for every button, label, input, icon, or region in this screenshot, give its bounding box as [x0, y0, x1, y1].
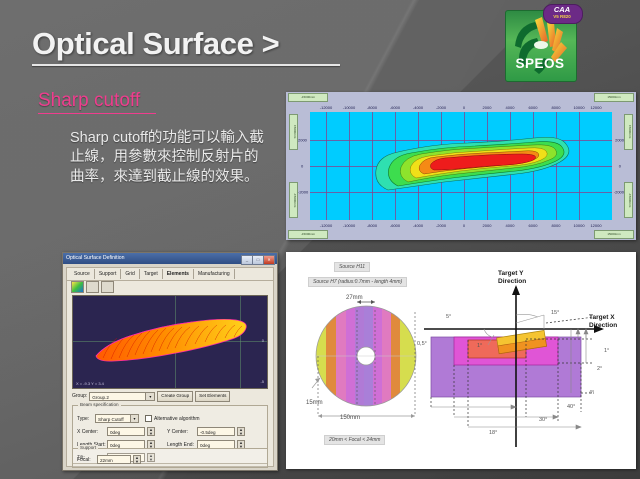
- contour-plot-canvas: -15000mm 15000mm -15000mm 15000mm 15000m…: [286, 92, 636, 240]
- side-label-bottom-right: -15000mm: [624, 182, 633, 218]
- chevron-down-icon[interactable]: ▼: [145, 393, 154, 400]
- dialog-toolbar[interactable]: [67, 281, 273, 293]
- xtick-bottom-10: 8000: [552, 223, 561, 228]
- y-center-input[interactable]: -0.5deg: [197, 427, 235, 436]
- corner-label-top-left: -15000mm: [288, 93, 328, 102]
- xtick-top-3: -6000: [390, 105, 400, 110]
- ytick-left-0: 2000: [298, 138, 307, 143]
- render-mode-shaded-icon[interactable]: [71, 281, 84, 293]
- angle-30-label: 30°: [539, 417, 547, 423]
- caa-badge-sublabel: V5 R820: [543, 14, 581, 20]
- focal-label: Focal:: [77, 457, 95, 463]
- viewport-axis-zero: 0: [262, 338, 264, 343]
- focal-row[interactable]: Focal: 22mm ▲▼: [77, 455, 141, 464]
- x-center-input[interactable]: 0deg: [107, 427, 145, 436]
- xtick-bottom-8: 4000: [506, 223, 515, 228]
- xtick-top-4: -4000: [413, 105, 423, 110]
- xtick-top-12: 12000: [590, 105, 601, 110]
- xtick-bottom-12: 12000: [590, 223, 601, 228]
- group-combobox[interactable]: Group.2 ▼: [89, 392, 155, 401]
- corner-label-bottom-right: 15000mm: [594, 230, 634, 239]
- xtick-bottom-7: 2000: [483, 223, 492, 228]
- xtick-top-10: 8000: [552, 105, 561, 110]
- tab-manufacturing[interactable]: Manufacturing: [194, 269, 235, 279]
- support-group: Support Focal: 22mm ▲▼: [72, 448, 268, 468]
- target-x-label-line2: Direction: [589, 322, 617, 330]
- tab-grid[interactable]: Grid: [121, 269, 139, 279]
- y-center-label: Y Center:: [167, 429, 195, 435]
- side-label-bottom-left: -15000mm: [289, 182, 298, 218]
- dialog-title-text: Optical Surface Definition: [66, 255, 125, 261]
- body-paragraph: Sharp cutoff的功能可以輸入截止線，用參數來控制反射片的曲率，來達到截…: [70, 129, 270, 187]
- xtick-bottom-11: 10000: [573, 223, 584, 228]
- support-group-title: Support: [78, 445, 98, 450]
- group-row[interactable]: Group: Group.2 ▼ Create Group Set Elemen…: [72, 391, 268, 401]
- ytick-right-0: 2000: [615, 138, 624, 143]
- type-label: Type:: [77, 416, 93, 422]
- angle-5-label: 5°: [446, 314, 451, 320]
- create-group-button[interactable]: Create Group: [157, 391, 193, 402]
- xtick-bottom-3: -6000: [390, 223, 400, 228]
- group-value: Group.2: [92, 395, 109, 400]
- group-label: Group:: [72, 393, 87, 399]
- ytick-right-2: -2000: [614, 190, 624, 195]
- dialog-body: Source Support Grid Target Elements Manu…: [66, 267, 274, 467]
- target-y-label-line1: Target Y: [498, 270, 523, 278]
- y-center-stepper[interactable]: ▲▼: [237, 427, 245, 436]
- xtick-top-5: -2000: [436, 105, 446, 110]
- xtick-top-8: 4000: [506, 105, 515, 110]
- tab-source[interactable]: Source: [70, 269, 95, 279]
- technical-diagram-canvas: Source H11 Source H7 (radius:0.7mm - len…: [286, 252, 636, 469]
- subheading-underline: [38, 113, 156, 114]
- xtick-top-6: 0: [463, 105, 465, 110]
- contour-levels: [310, 112, 612, 220]
- subheading-block: Sharp cutoff: [38, 90, 156, 114]
- angle-1-right-label: 1°: [604, 348, 609, 354]
- close-button[interactable]: ✕: [263, 255, 275, 265]
- focal-range-tag: 20mm < Focal < 24mm: [324, 435, 385, 445]
- title-underline: [32, 64, 340, 66]
- xtick-bottom-9: 6000: [529, 223, 538, 228]
- focal-stepper[interactable]: ▲▼: [133, 455, 141, 464]
- speos-logo: SPEOS CAA V5 R820: [500, 4, 582, 82]
- source-h7-tag: Source H7 (radius:0.7mm - length 4mm): [308, 277, 407, 287]
- contour-plot-area: [310, 112, 612, 220]
- x-center-row[interactable]: X Center: 0deg ▲▼: [77, 427, 155, 436]
- side-label-top-right: 15000mm: [624, 114, 633, 150]
- type-combobox[interactable]: Sharp Cutoff ▼: [95, 414, 139, 423]
- contour-plot-image: -15000mm 15000mm -15000mm 15000mm 15000m…: [286, 92, 636, 240]
- length-end-label: Length End:: [167, 442, 195, 448]
- tab-target[interactable]: Target: [140, 269, 163, 279]
- render-mode-wireframe-icon[interactable]: [86, 281, 99, 293]
- beam-specification-title: Beam specification: [78, 402, 121, 407]
- xtick-bottom-2: -8000: [367, 223, 377, 228]
- viewport-coordinate-readout: X = -9.3 Y = 3.4: [76, 381, 104, 386]
- side-label-top-left: 15000mm: [289, 114, 298, 150]
- title-block: Optical Surface >: [32, 28, 362, 66]
- x-center-label: X Center:: [77, 429, 105, 435]
- ytick-left-2: -2000: [298, 190, 308, 195]
- x-center-stepper[interactable]: ▲▼: [147, 427, 155, 436]
- source-h11-tag: Source H11: [334, 262, 370, 272]
- xtick-bottom-1: -10000: [343, 223, 355, 228]
- target-y-label-line2: Direction: [498, 278, 526, 286]
- subheading: Sharp cutoff: [38, 90, 156, 112]
- corner-label-top-right: 15000mm: [594, 93, 634, 102]
- three-d-viewport[interactable]: X = -9.3 Y = 3.4 -5 0: [72, 295, 268, 389]
- alternative-algorithm-label: Alternative algorithm: [154, 416, 200, 422]
- xtick-top-2: -8000: [367, 105, 377, 110]
- page-title: Optical Surface >: [32, 28, 362, 61]
- dialog-titlebar[interactable]: Optical Surface Definition _ □ ✕: [63, 253, 277, 264]
- type-chevron-down-icon[interactable]: ▼: [130, 415, 138, 422]
- ytick-left-1: 0: [301, 164, 303, 169]
- corner-label-bottom-left: -15000mm: [288, 230, 328, 239]
- xtick-bottom-4: -4000: [413, 223, 423, 228]
- xtick-top-0: -12000: [320, 105, 332, 110]
- dim-150mm-label: 150mm: [340, 415, 360, 421]
- xtick-bottom-5: -2000: [436, 223, 446, 228]
- angle-1-inner-label: 1°: [477, 343, 482, 349]
- xtick-bottom-6: 0: [463, 223, 465, 228]
- xtick-top-11: 10000: [573, 105, 584, 110]
- focal-input[interactable]: 22mm: [97, 455, 131, 464]
- render-mode-points-icon[interactable]: [101, 281, 114, 293]
- logo-wordmark: SPEOS: [505, 56, 575, 71]
- y-center-row[interactable]: Y Center: -0.5deg ▲▼: [167, 427, 245, 436]
- target-direction-diagram: [416, 267, 626, 457]
- xtick-top-9: 6000: [529, 105, 538, 110]
- set-elements-button[interactable]: Set Elements: [195, 391, 230, 402]
- target-x-label-line1: Target X: [589, 314, 615, 322]
- reflector-mesh: [73, 296, 268, 388]
- technical-diagram-image: Source H11 Source H7 (radius:0.7mm - len…: [286, 252, 636, 469]
- angle-4-right-label: 4°: [589, 390, 594, 396]
- type-row[interactable]: Type: Sharp Cutoff ▼ Alternative algorit…: [77, 414, 200, 423]
- angle-05-label: 0,5°: [417, 341, 427, 347]
- xtick-top-7: 2000: [483, 105, 492, 110]
- tab-support[interactable]: Support: [95, 269, 122, 279]
- xtick-top-1: -10000: [343, 105, 355, 110]
- dim-27mm-label: 27mm: [346, 295, 363, 301]
- slide-canvas: Optical Surface > Sharp cutoff Sharp cut…: [0, 0, 640, 479]
- angle-15-label: 15°: [551, 310, 559, 316]
- alternative-algorithm-checkbox[interactable]: [145, 415, 152, 422]
- dim-15mm-label: 15mm: [306, 400, 323, 406]
- angle-40-label: 40°: [567, 404, 575, 410]
- ytick-right-1: 0: [619, 164, 621, 169]
- angle-2-right-label: 2°: [597, 366, 602, 372]
- tab-elements[interactable]: Elements: [163, 269, 194, 279]
- type-value: Sharp Cutoff: [98, 417, 124, 422]
- dialog-tabstrip[interactable]: Source Support Grid Target Elements Manu…: [67, 268, 273, 281]
- angle-18-label: 18°: [489, 430, 497, 436]
- viewport-axis-minus5: -5: [260, 379, 264, 384]
- optical-surface-definition-dialog[interactable]: Optical Surface Definition _ □ ✕ Source …: [62, 252, 278, 471]
- xtick-bottom-0: -12000: [320, 223, 332, 228]
